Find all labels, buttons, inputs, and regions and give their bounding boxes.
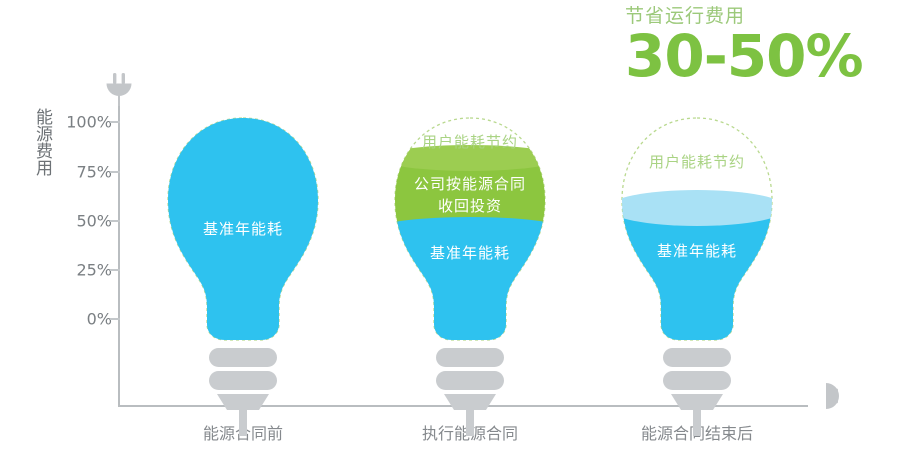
bulb-2-base-ring <box>436 348 504 367</box>
bulb-3-fill-baseline <box>609 208 785 348</box>
bulb-2-socket <box>382 394 558 438</box>
y-tick-label: 75% <box>42 163 112 182</box>
bulb-2-cyan-surface <box>382 217 558 239</box>
headline-block: 节省运行费用 30-50% <box>625 4 895 86</box>
bulb-3-base-ring <box>663 348 731 367</box>
y-tick-label: 100% <box>42 113 112 132</box>
bulb-3-liquid-surface <box>609 190 785 226</box>
bulb-1-graphic <box>155 100 331 390</box>
y-tick-label: 0% <box>42 310 112 329</box>
y-tick-mark <box>110 220 120 222</box>
bulb-1-base-ring <box>209 371 277 390</box>
bulb-2-savings-label: 用户能耗节约 <box>382 132 558 152</box>
bulb-3-socket <box>609 394 785 438</box>
bulb-2-fill-baseline <box>382 228 558 348</box>
headline-value: 30-50% <box>625 26 895 86</box>
y-tick-mark <box>110 121 120 123</box>
bulb-1-fill-baseline <box>155 116 331 346</box>
y-tick-mark <box>110 171 120 173</box>
bulb-group-1: 基准年能耗 <box>155 100 331 390</box>
y-axis-line <box>118 92 120 407</box>
y-tick-mark <box>110 318 120 320</box>
y-tick-mark <box>110 269 120 271</box>
bulb-2-base-ring <box>436 371 504 390</box>
power-socket-icon <box>806 379 846 417</box>
power-plug-icon <box>102 72 136 110</box>
y-tick-label: 50% <box>42 212 112 231</box>
bulb-3-base-ring <box>663 371 731 390</box>
infographic-canvas: 节省运行费用 30-50% 能源费用 100% 75% 50% <box>0 0 900 473</box>
bulb-1-socket <box>155 394 331 438</box>
bulb-group-2: 用户能耗节约 公司按能源合同 收回投资 基准年能耗 <box>382 100 558 390</box>
bulb-group-3: 用户能耗节约 基准年能耗 <box>609 100 785 390</box>
bulb-3-graphic <box>609 100 785 390</box>
bulb-1-base-ring <box>209 348 277 367</box>
bulb-3-savings-label: 用户能耗节约 <box>609 152 785 172</box>
y-tick-label: 25% <box>42 261 112 280</box>
